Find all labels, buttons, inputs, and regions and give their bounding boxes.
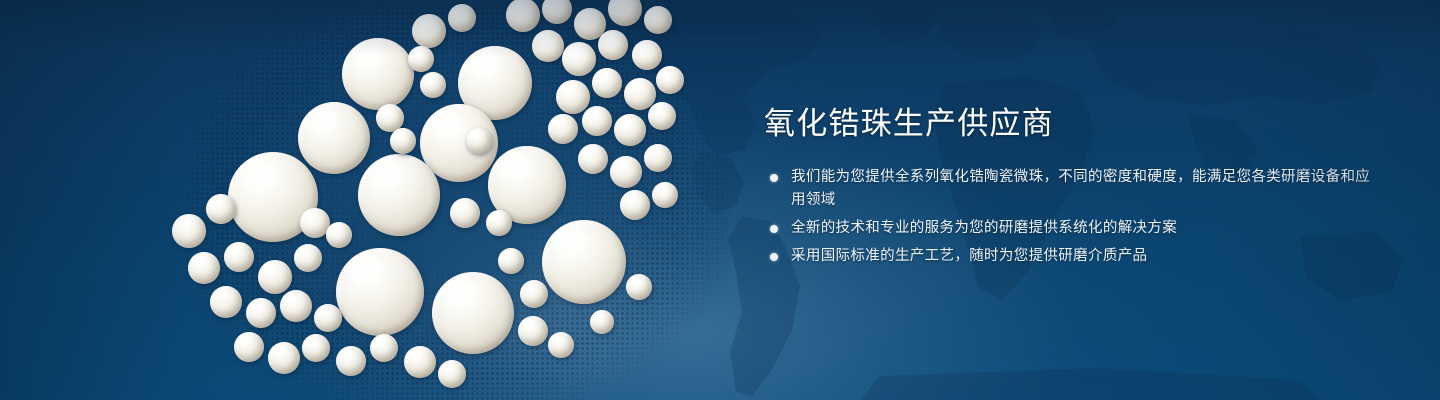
bead-cluster bbox=[150, 0, 730, 400]
photo-background bbox=[150, 0, 730, 400]
bullet-icon bbox=[770, 174, 778, 182]
page-title: 氧化锆珠生产供应商 bbox=[764, 104, 1384, 144]
halftone-texture bbox=[150, 0, 730, 400]
list-item: 采用国际标准的生产工艺，随时为您提供研磨介质产品 bbox=[764, 245, 1384, 268]
list-item-label: 全新的技术和专业的服务为您的研磨提供系统化的解决方案 bbox=[791, 220, 1177, 236]
bullet-icon bbox=[770, 253, 778, 261]
zirconia-beads-photo bbox=[150, 0, 730, 400]
list-item-label: 采用国际标准的生产工艺，随时为您提供研磨介质产品 bbox=[791, 248, 1147, 264]
list-item: 我们能为您提供全系列氧化锆陶瓷微珠，不同的密度和硬度，能满足您各类研磨设备和应用… bbox=[764, 166, 1384, 212]
list-item-label: 我们能为您提供全系列氧化锆陶瓷微珠，不同的密度和硬度，能满足您各类研磨设备和应用… bbox=[791, 169, 1370, 208]
hero-banner: 氧化锆珠生产供应商 我们能为您提供全系列氧化锆陶瓷微珠，不同的密度和硬度，能满足… bbox=[0, 0, 1440, 400]
list-item: 全新的技术和专业的服务为您的研磨提供系统化的解决方案 bbox=[764, 217, 1384, 240]
banner-copy: 氧化锆珠生产供应商 我们能为您提供全系列氧化锆陶瓷微珠，不同的密度和硬度，能满足… bbox=[764, 104, 1384, 273]
bullet-icon bbox=[770, 225, 778, 233]
feature-list: 我们能为您提供全系列氧化锆陶瓷微珠，不同的密度和硬度，能满足您各类研磨设备和应用… bbox=[764, 166, 1384, 268]
